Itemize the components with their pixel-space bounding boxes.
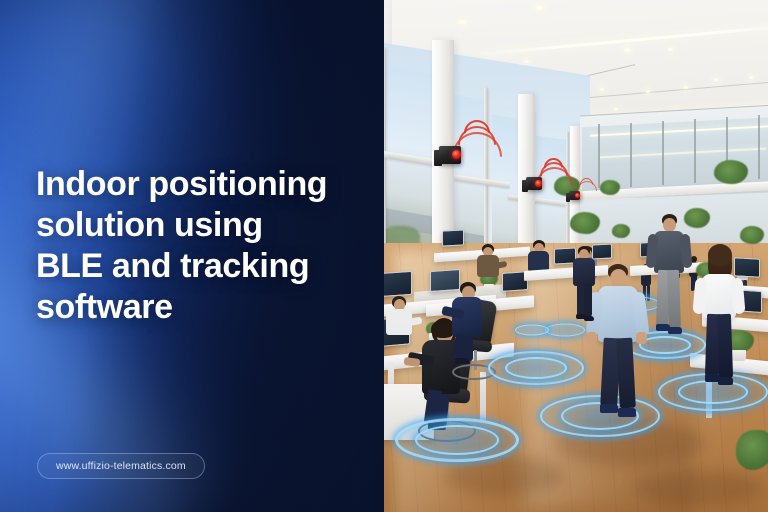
person-walking-woman-white [690,244,746,394]
hero-banner: Indoor positioning solution using BLE an… [0,0,768,512]
ceiling-downlight [600,88,604,91]
plant [600,180,620,195]
person-walking-far-navy [566,246,602,324]
floor-shadow [634,470,764,506]
rear-office-mullion [630,123,632,187]
ceiling-downlight [668,48,673,51]
rear-office-mullion [598,124,600,188]
ble-beacon-3 [566,180,602,210]
rear-office-mullion [662,121,664,185]
rear-office-mullion [694,119,696,183]
ceiling-downlight [684,86,688,89]
ceiling-downlight [459,20,466,24]
floor-shadow [444,456,564,496]
person-seated-rear-tan [472,244,508,288]
plant [714,160,748,184]
person-seated-rear-left [384,296,422,348]
ceiling-downlight [714,78,718,81]
monitor [384,271,412,297]
page-title: Indoor positioning solution using BLE an… [36,164,366,328]
rear-office-mullion [758,115,760,179]
ceiling-downlight [536,6,543,10]
person-walking-man-grey [642,214,694,346]
beacon-led-indicator [452,150,461,159]
plant [612,224,630,238]
ceiling-downlight [524,60,529,63]
left-text-panel: Indoor positioning solution using BLE an… [0,0,384,512]
plant [740,226,764,244]
ble-beacon-1 [434,126,504,182]
plant [736,430,768,470]
person-seated-man-navy [442,282,496,374]
beacon-led-indicator [535,180,542,187]
website-url-badge[interactable]: www.uffizio-telematics.com [37,453,205,479]
ceiling-downlight [624,48,631,52]
office-photo [384,0,768,512]
ceiling-downlight [614,108,618,110]
ceiling-downlight [749,76,753,79]
monitor [442,229,464,246]
beacon-led-indicator [575,193,580,198]
ceiling-downlight [646,90,650,93]
plant [570,212,600,234]
